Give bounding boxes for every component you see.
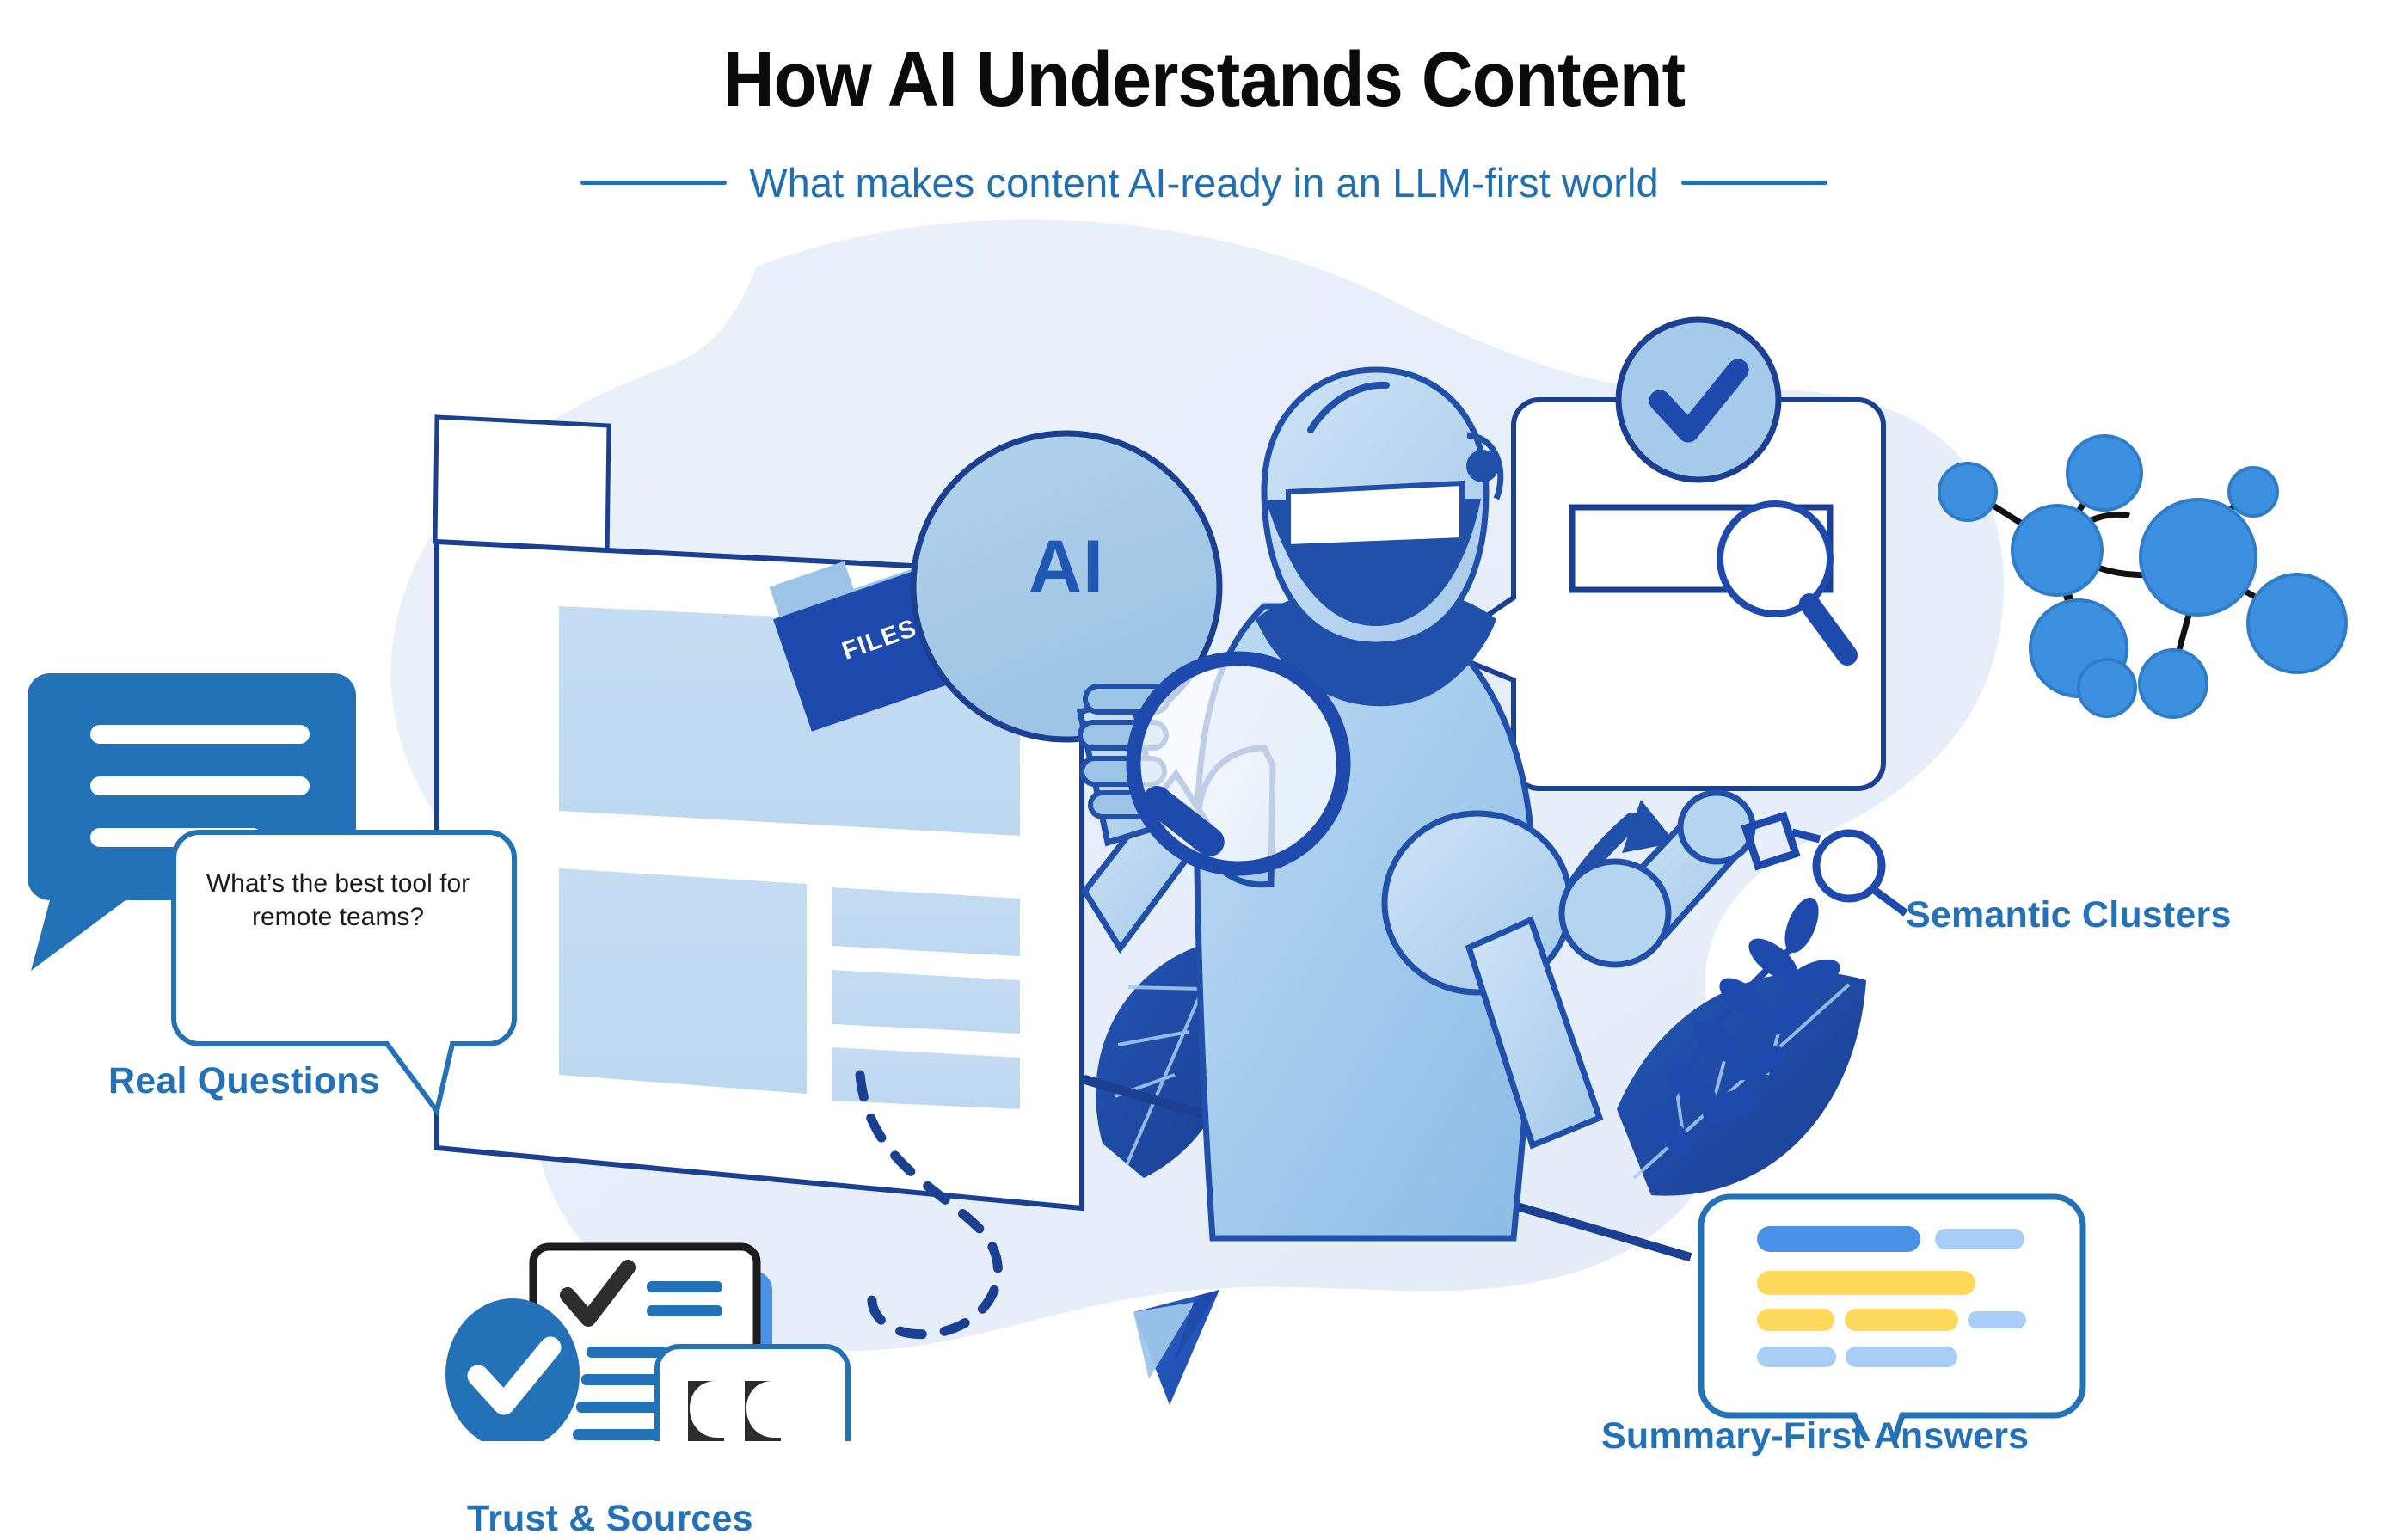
page-subtitle: What makes content AI-ready in an LLM-fi… [749, 159, 1659, 206]
summary-row-3 [1757, 1309, 2026, 1331]
robot-ear-dot [1466, 450, 1499, 482]
webpage-tab [435, 417, 609, 559]
header: How AI Understands Content What makes co… [0, 0, 2408, 232]
rule-left [580, 181, 727, 185]
infographic-canvas: How AI Understands Content What makes co… [0, 0, 2408, 1441]
summary-row-2 [1757, 1271, 1975, 1295]
illustration-svg [0, 215, 2408, 1441]
bubble-line-2 [90, 776, 310, 795]
label-semantic-clusters: Semantic Clusters [1906, 894, 2232, 936]
label-trust-sources: Trust & Sources [467, 1498, 753, 1540]
paper-plane-icon [1133, 1290, 1219, 1405]
verified-check-badge [1619, 320, 1778, 480]
summary-bubble [1701, 1197, 2083, 1441]
robot-visor-slit [1288, 483, 1462, 547]
quote-bubble [657, 1347, 848, 1441]
webpage-bar-2 [832, 970, 1020, 1034]
question-bubble-text: What’s the best tool for remote teams? [196, 867, 480, 934]
magnifier-icon [1133, 659, 1343, 868]
webpage-bar-1 [832, 887, 1020, 956]
summary-row-1 [1757, 1226, 2024, 1252]
ai-badge-label: AI [976, 525, 1157, 610]
bubble-line-1 [90, 725, 310, 744]
rule-right [1681, 181, 1827, 185]
label-summary-first-answers: Summary-First Answers [1601, 1415, 2029, 1457]
subtitle-row: What makes content AI-ready in an LLM-fi… [0, 159, 2408, 206]
page-title: How AI Understands Content [96, 41, 2312, 119]
label-real-questions: Real Questions [108, 1060, 380, 1102]
illustration: What’s the best tool for remote teams? A… [0, 215, 2408, 1441]
summary-row-4 [1757, 1347, 1957, 1367]
webpage-left-block [559, 868, 807, 1094]
